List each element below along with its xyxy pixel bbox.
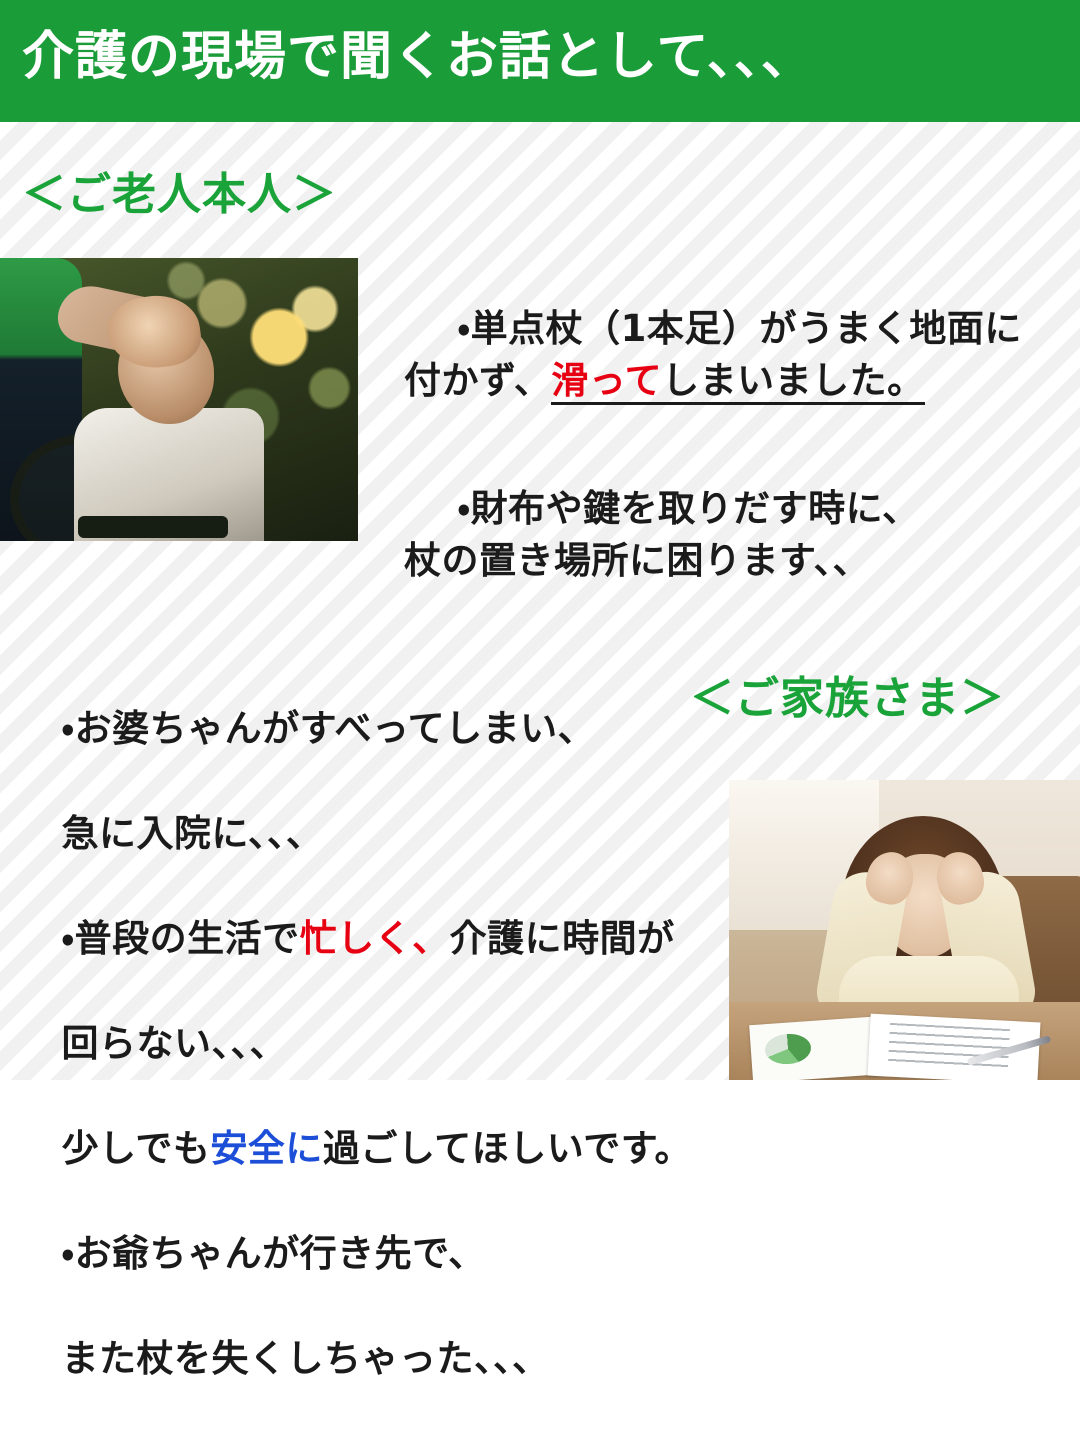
section-heading-elder: ＜ご老人本人＞ — [22, 158, 337, 222]
page-title: 介護の現場で聞くお話として、、、 — [22, 26, 814, 88]
family-line-1: ・お婆ちゃんがすべってしまい、 — [62, 707, 596, 750]
photo-elder — [0, 258, 358, 541]
elder-point-1: ・単点杖（1本足）がうまく地面に 付かず、滑ってしまいました。 — [404, 250, 1074, 460]
photo-family — [729, 780, 1080, 1080]
family-line-3-post: 介護に時間が — [450, 917, 675, 960]
family-line-5-highlight: 安全に — [210, 1127, 323, 1170]
header-banner: 介護の現場で聞くお話として、、、 — [0, 0, 1080, 122]
page-background: 介護の現場で聞くお話として、、、 ＜ご老人本人＞ ・単点杖（1本足）がうまく地面… — [0, 0, 1080, 1080]
family-text-block: ・お婆ちゃんがすべってしまい、 急に入院に、、、 ・普段の生活で忙しく、介護に時… — [8, 650, 708, 1438]
photo-family-document-lines — [888, 1023, 1010, 1069]
elder-point-1-suffix: しまいました。 — [662, 359, 925, 405]
family-line-3-highlight: 忙しく、 — [300, 917, 450, 960]
family-line-7: また杖を失くしちゃった、、、 — [62, 1337, 550, 1380]
elder-point-2: ・財布や鍵を取りだす時に、 杖の置き場所に困ります、、 — [404, 430, 1074, 640]
family-line-6: ・お爺ちゃんが行き先で、 — [62, 1232, 486, 1275]
family-line-5-post: 過ごしてほしいです。 — [323, 1127, 692, 1170]
family-line-4: 回らない、、、 — [62, 1022, 288, 1065]
elder-point-1-highlight: 滑って — [551, 359, 662, 405]
family-line-5-pre: 少しでも — [62, 1127, 211, 1170]
section-heading-family: ＜ご家族さま＞ — [690, 662, 1005, 726]
family-line-3-pre: ・普段の生活で — [62, 917, 300, 960]
photo-elder-footrest — [78, 516, 228, 538]
elder-point-2-text: ・財布や鍵を取りだす時に、 杖の置き場所に困ります、、 — [404, 487, 920, 583]
family-line-2: 急に入院に、、、 — [62, 812, 324, 855]
